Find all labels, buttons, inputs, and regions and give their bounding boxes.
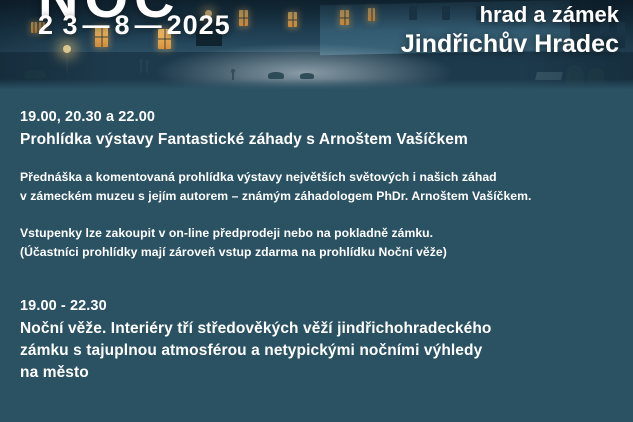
poster-date: 2 3—8—2025 [38,12,231,39]
event-block-2: 19.00 - 22.30 Noční věže. Interiéry tří … [20,296,619,384]
event-1-description: Přednáška a komentovaná prohlídka výstav… [20,168,619,206]
date-month: 8 [115,10,131,40]
venue-line-1: hrad a zámek [401,2,619,28]
section-spacer [20,262,619,296]
poster-content: 19.00, 20.30 a 22.00 Prohlídka výstavy F… [0,89,633,384]
date-day: 2 3 [38,10,79,40]
venue-block: hrad a zámek Jindřichův Hradec [401,2,619,59]
event-2-title-line-3: na město [20,362,619,384]
event-1-description-line-1: Přednáška a komentovaná prohlídka výstav… [20,168,619,187]
date-year: 2025 [167,10,231,40]
event-block-1: 19.00, 20.30 a 22.00 Prohlídka výstavy F… [20,107,619,262]
event-2-title-line-2: zámku s tajuplnou atmosférou a netypický… [20,340,619,362]
hero-image: NOC 2 3—8—2025 hrad a zámek Jindřichův H… [0,0,633,89]
date-separator-1: — [79,12,115,39]
date-separator-2: — [131,12,167,39]
event-2-time: 19.00 - 22.30 [20,296,619,318]
event-1-note-line-1: Vstupenky lze zakoupit v on-line předpro… [20,224,619,243]
event-1-note-line-2: (Účastníci prohlídky mají zároveň vstup … [20,243,619,262]
event-2-title-line-1: Noční věže. Interiéry tří středověkých v… [20,318,619,340]
event-1-time: 19.00, 20.30 a 22.00 [20,107,619,129]
hero-bottom-fade [0,79,633,89]
event-1-description-line-2: v zámeckém muzeu s jejím autorem – známý… [20,187,619,206]
event-2-title: Noční věže. Interiéry tří středověkých v… [20,318,619,384]
venue-line-2: Jindřichův Hradec [401,30,619,60]
event-1-note: Vstupenky lze zakoupit v on-line předpro… [20,224,619,262]
event-1-title: Prohlídka výstavy Fantastické záhady s A… [20,129,619,151]
